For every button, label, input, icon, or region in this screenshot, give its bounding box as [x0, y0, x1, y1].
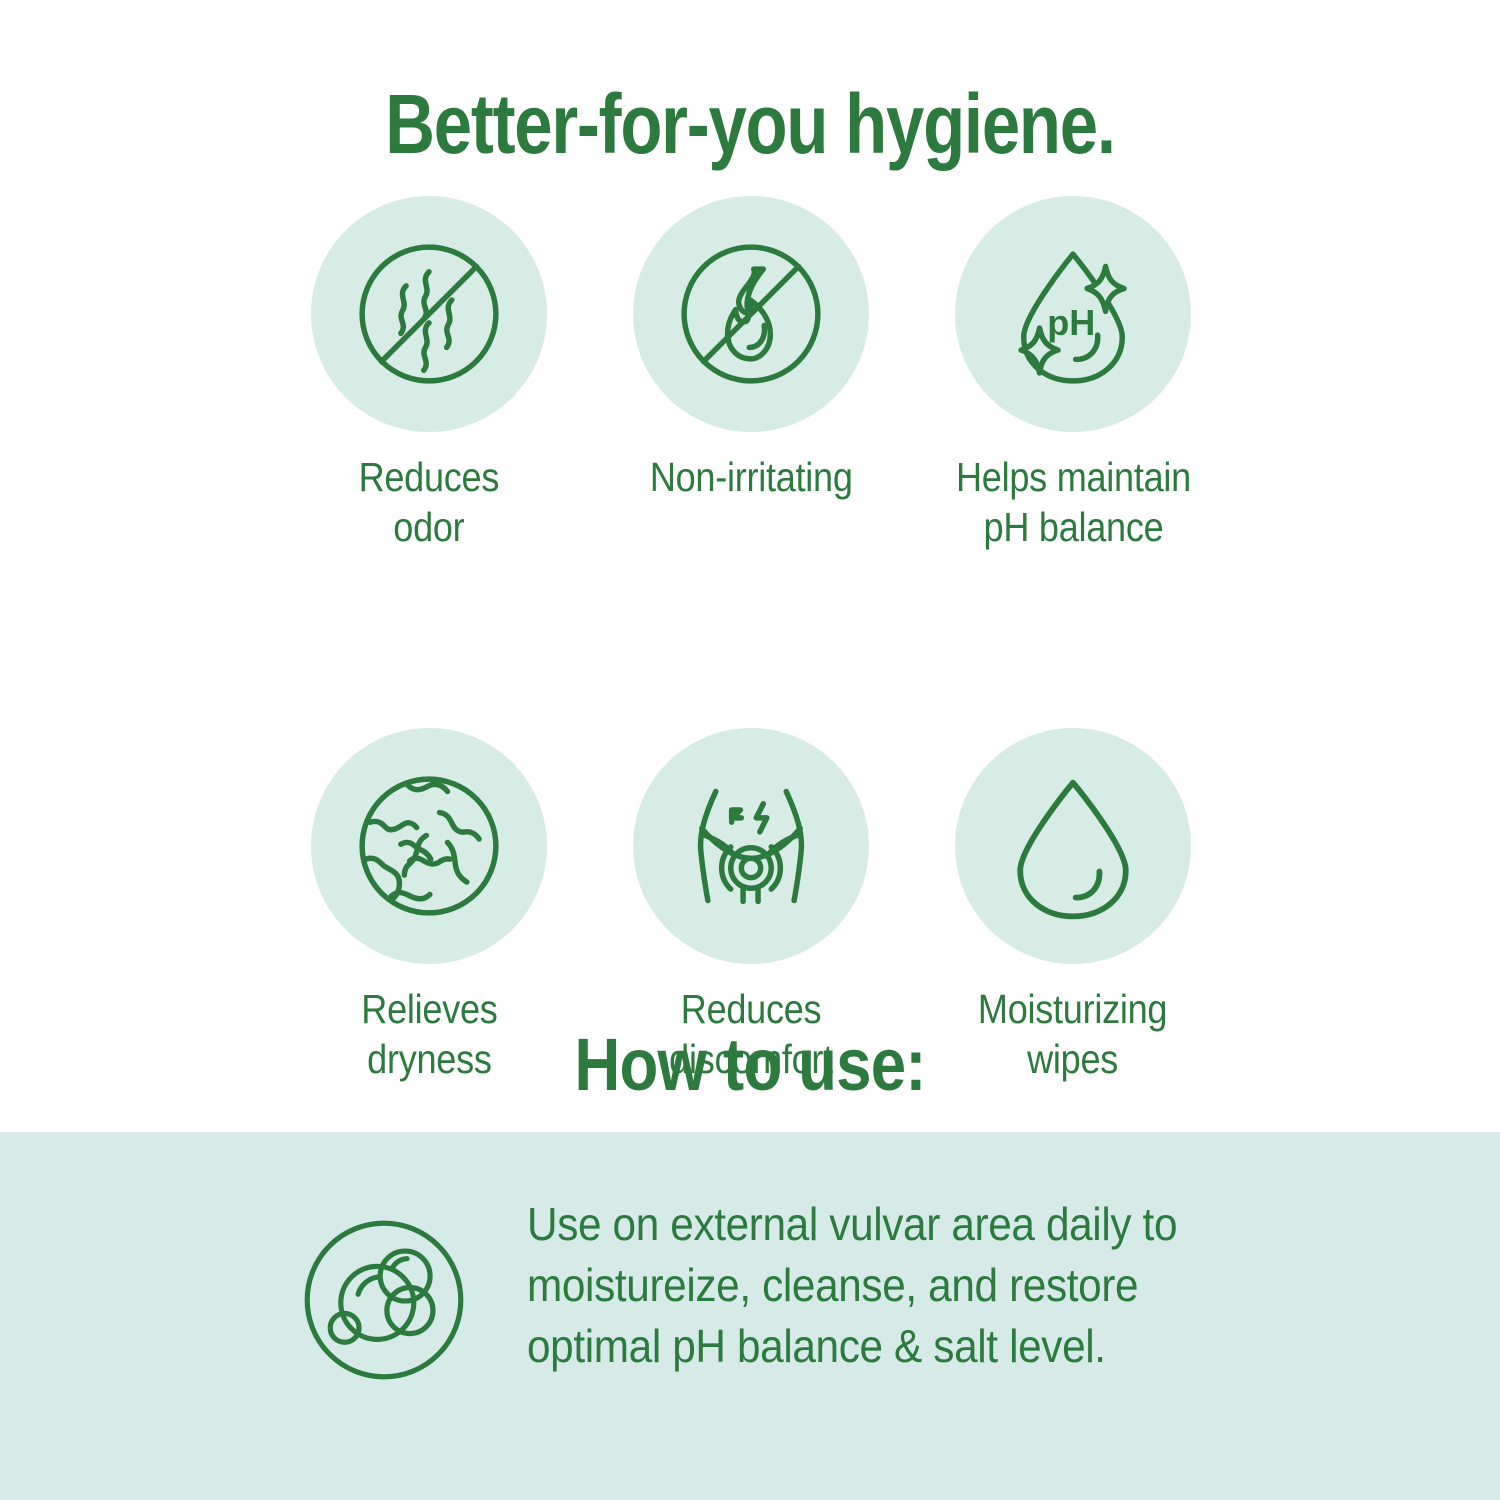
benefit-icon-badge	[633, 728, 869, 964]
no-flame-icon	[663, 226, 839, 402]
benefit-item-reduces-odor: Reduces odor	[268, 196, 590, 552]
benefit-icon-badge	[311, 196, 547, 432]
how-to-use-heading: How to use:	[105, 1022, 1395, 1108]
bubbles-icon	[288, 1204, 480, 1396]
benefit-icon-badge	[311, 728, 547, 964]
how-to-use-banner: Use on external vulvar area daily to moi…	[0, 1132, 1500, 1500]
benefit-label: Helps maintain pH balance	[956, 452, 1191, 552]
benefit-label: Reduces odor	[359, 452, 500, 552]
svg-text:pH: pH	[1047, 302, 1095, 343]
benefit-icon-badge	[955, 728, 1191, 964]
benefits-row-1: Reduces odor Non-irritating	[268, 196, 1234, 552]
how-to-use-instruction: Use on external vulvar area daily to moi…	[527, 1194, 1177, 1377]
how-to-use-content: Use on external vulvar area daily to moi…	[288, 1194, 1234, 1396]
benefit-icon-badge	[633, 196, 869, 432]
dry-skin-icon	[341, 758, 517, 934]
product-feature-panel: Better-for-you hygiene.	[0, 0, 1500, 1500]
benefit-icon-badge: pH	[955, 196, 1191, 432]
benefit-item-ph-balance: pH Helps maintain pH balance	[912, 196, 1234, 552]
benefits-grid: Reduces odor Non-irritating	[268, 196, 1234, 1084]
ph-droplet-icon: pH	[985, 226, 1161, 402]
pelvic-pain-icon	[663, 758, 839, 934]
benefit-item-non-irritating: Non-irritating	[590, 196, 912, 502]
no-odor-icon	[341, 226, 517, 402]
benefit-label: Non-irritating	[650, 452, 853, 502]
droplet-icon	[985, 758, 1161, 934]
page-title: Better-for-you hygiene.	[135, 76, 1365, 172]
